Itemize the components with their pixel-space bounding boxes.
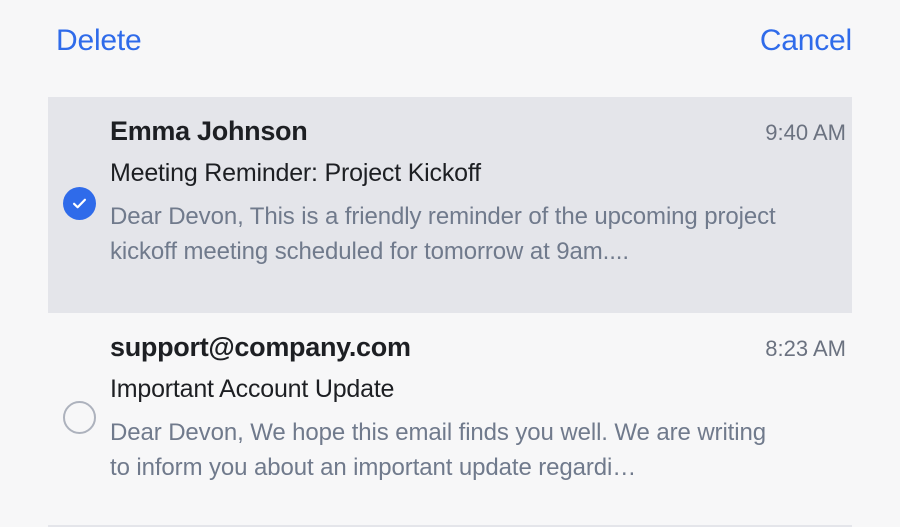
email-subject: Important Account Update xyxy=(110,373,846,407)
email-list-item[interactable]: Emma Johnson 9:40 AM Meeting Reminder: P… xyxy=(48,97,852,313)
email-preview: Dear Devon, We hope this email finds you… xyxy=(110,415,790,486)
delete-button[interactable]: Delete xyxy=(56,26,142,56)
selection-cell xyxy=(48,331,110,503)
selection-cell xyxy=(48,115,110,291)
email-timestamp: 9:40 AM xyxy=(765,120,846,147)
email-preview: Dear Devon, This is a friendly reminder … xyxy=(110,199,790,270)
email-selection-screen: Delete Cancel Emma Johnson 9:40 AM Meeti… xyxy=(0,0,900,526)
email-list-item[interactable]: support@company.com 8:23 AM Important Ac… xyxy=(48,313,852,525)
cancel-button[interactable]: Cancel xyxy=(760,26,852,56)
email-subject: Meeting Reminder: Project Kickoff xyxy=(110,157,846,191)
email-content: support@company.com 8:23 AM Important Ac… xyxy=(110,331,852,485)
email-timestamp: 8:23 AM xyxy=(765,336,846,363)
check-circle-filled-icon[interactable] xyxy=(63,187,96,220)
circle-outline-icon[interactable] xyxy=(63,401,96,434)
email-content: Emma Johnson 9:40 AM Meeting Reminder: P… xyxy=(110,115,852,269)
email-list: Emma Johnson 9:40 AM Meeting Reminder: P… xyxy=(0,97,900,527)
action-bar: Delete Cancel xyxy=(0,0,900,82)
email-header-row: support@company.com 8:23 AM xyxy=(110,331,846,364)
sender-name: Emma Johnson xyxy=(110,115,307,148)
sender-name: support@company.com xyxy=(110,331,411,364)
email-header-row: Emma Johnson 9:40 AM xyxy=(110,115,846,148)
